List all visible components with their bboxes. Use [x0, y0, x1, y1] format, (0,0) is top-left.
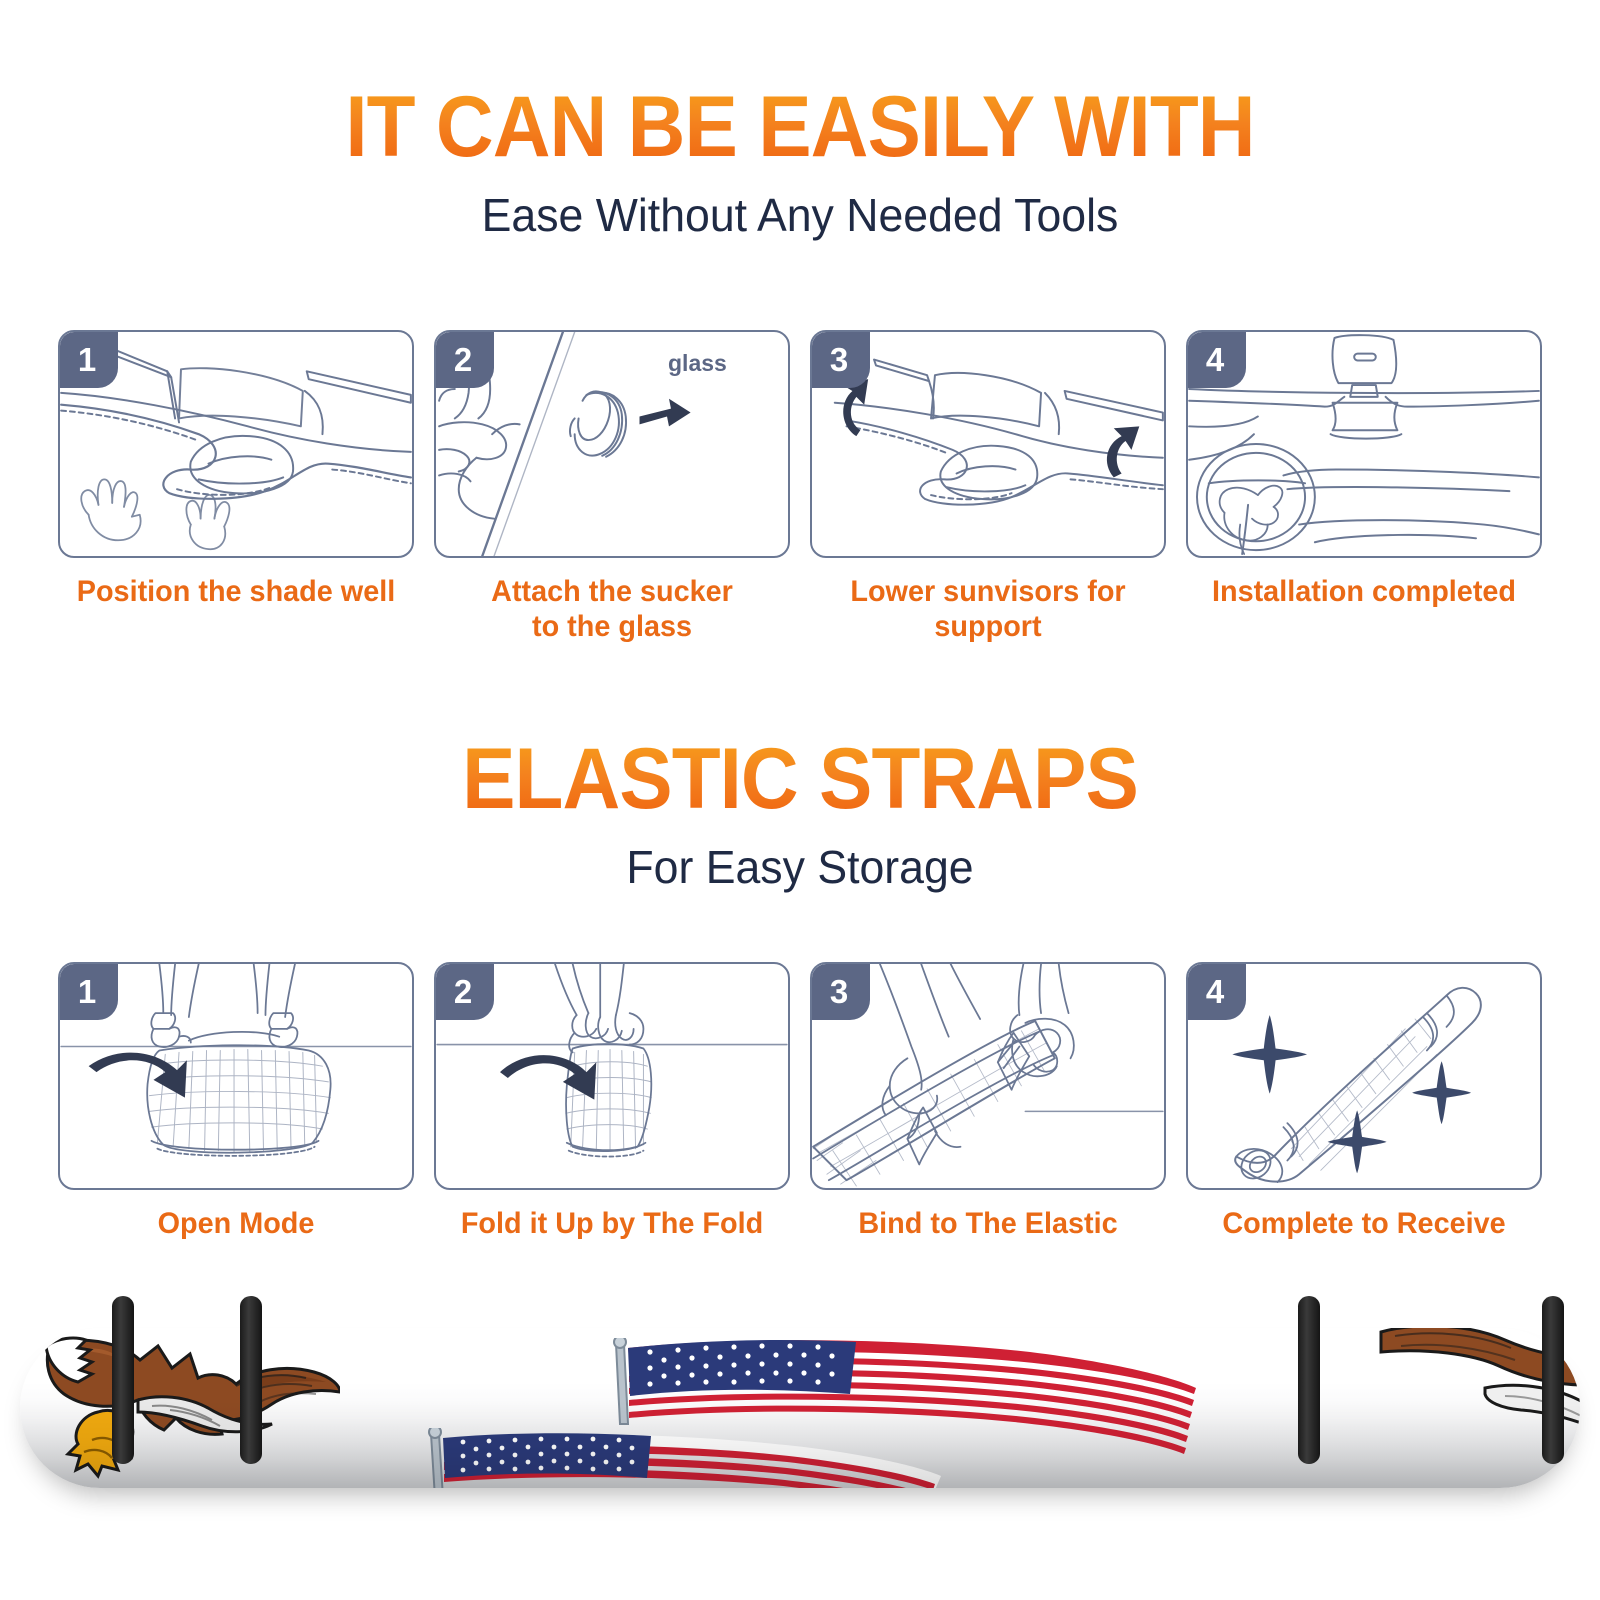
- step-storage-2: 2: [434, 962, 790, 1241]
- step-number-badge: 1: [60, 332, 118, 388]
- step-storage-4: 4: [1186, 962, 1542, 1241]
- step-install-2: 2: [434, 330, 790, 645]
- step-panel: 2: [434, 962, 790, 1190]
- step-number-badge: 2: [436, 332, 494, 388]
- step-install-4: 4: [1186, 330, 1542, 645]
- step-number-badge: 4: [1188, 332, 1246, 388]
- step-number-badge: 4: [1188, 964, 1246, 1020]
- step-number-badge: 3: [812, 332, 870, 388]
- section-storage-subtitle: For Easy Storage: [24, 840, 1576, 895]
- step-number-badge: 1: [60, 964, 118, 1020]
- step-caption: Complete to Receive: [1193, 1206, 1535, 1241]
- step-caption: Lower sunvisors for support: [817, 574, 1159, 645]
- section-install-heading: IT CAN BE EASILY WITH Ease Without Any N…: [0, 84, 1600, 243]
- elastic-strap: [240, 1296, 262, 1464]
- elastic-strap: [112, 1296, 134, 1464]
- section-install-title: IT CAN BE EASILY WITH: [56, 84, 1544, 170]
- step-caption: Fold it Up by The Fold: [441, 1206, 783, 1241]
- step-panel: 2: [434, 330, 790, 558]
- step-caption: Attach the sucker to the glass: [441, 574, 783, 645]
- step-panel: 3: [810, 962, 1166, 1190]
- step-install-3: 3: [810, 330, 1166, 645]
- step-panel: 3: [810, 330, 1166, 558]
- elastic-strap: [1542, 1296, 1564, 1464]
- storage-steps-row: 1: [0, 962, 1600, 1241]
- glass-label: glass: [668, 350, 727, 377]
- step-storage-3: 3 Bind to The Elastic: [810, 962, 1166, 1241]
- section-storage-title: ELASTIC STRAPS: [56, 736, 1544, 822]
- step-panel: 1: [58, 962, 414, 1190]
- step-number-badge: 3: [812, 964, 870, 1020]
- product-photo: [0, 1300, 1600, 1550]
- section-install-subtitle: Ease Without Any Needed Tools: [24, 188, 1576, 243]
- step-panel: 1: [58, 330, 414, 558]
- step-caption: Bind to The Elastic: [817, 1206, 1159, 1241]
- step-caption: Position the shade well: [65, 574, 407, 609]
- step-caption: Open Mode: [65, 1206, 407, 1241]
- step-panel: 4: [1186, 330, 1542, 558]
- step-number-badge: 2: [436, 964, 494, 1020]
- step-panel: 4: [1186, 962, 1542, 1190]
- install-steps-row: 1: [0, 330, 1600, 645]
- step-storage-1: 1: [58, 962, 414, 1241]
- step-caption: Installation completed: [1193, 574, 1535, 609]
- section-storage-heading: ELASTIC STRAPS For Easy Storage: [0, 736, 1600, 895]
- step-install-1: 1: [58, 330, 414, 645]
- elastic-strap: [1298, 1296, 1320, 1464]
- infographic-page: IT CAN BE EASILY WITH Ease Without Any N…: [0, 0, 1600, 1600]
